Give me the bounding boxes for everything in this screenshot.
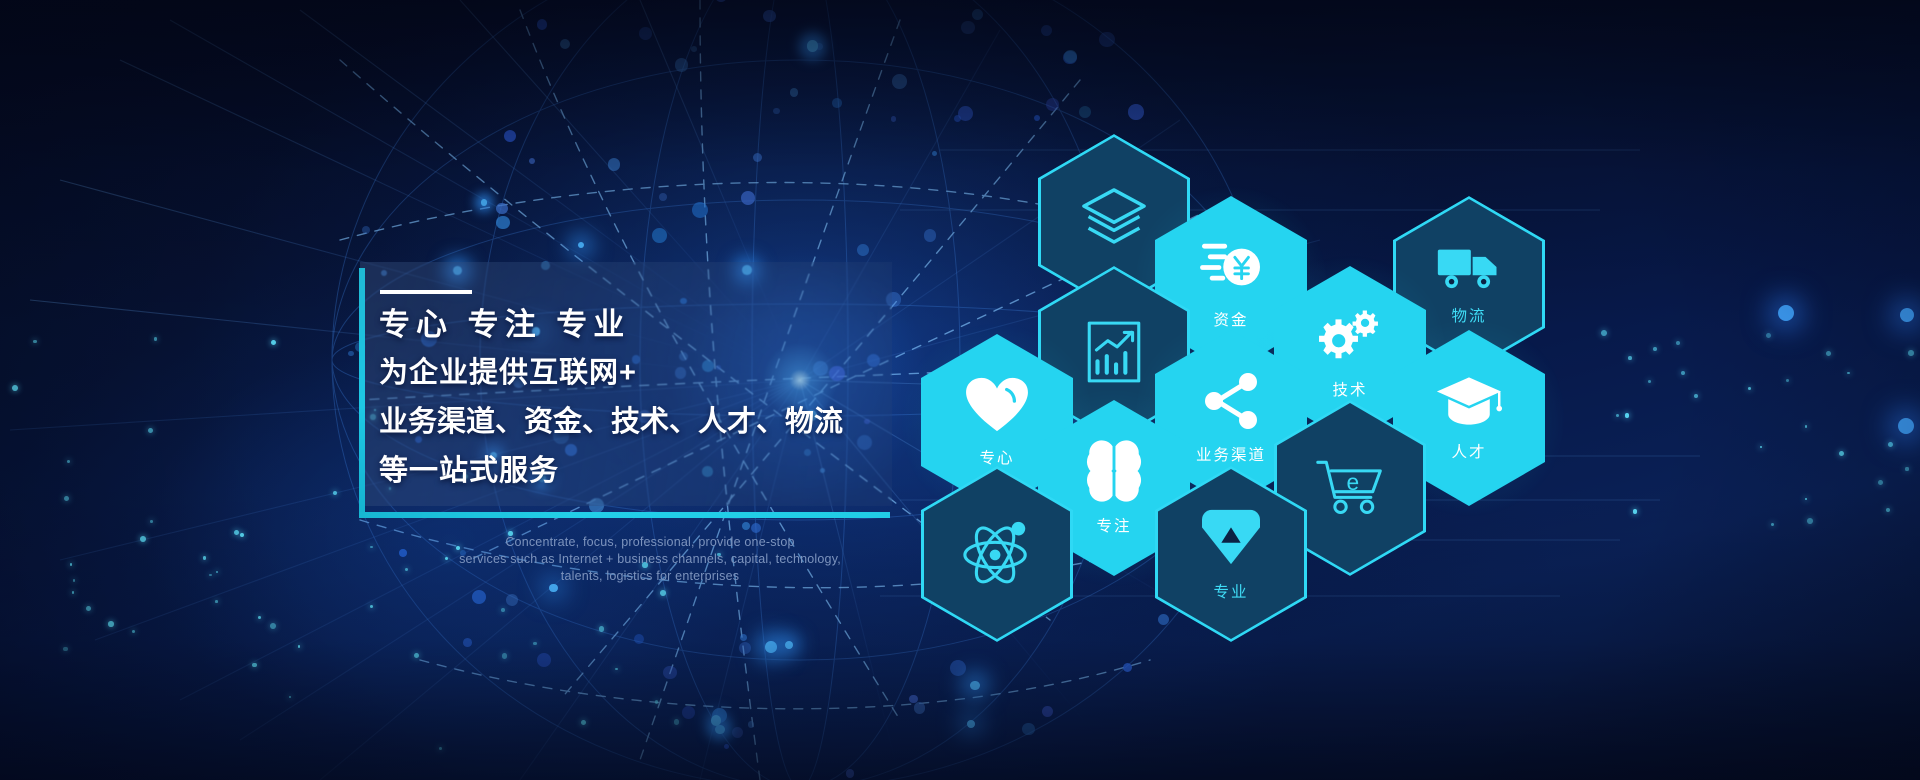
- clover-icon: [1083, 440, 1145, 507]
- hexagon-label: 业务渠道: [1196, 443, 1266, 465]
- atom-icon: [960, 516, 1034, 593]
- hexagon-label: 人才: [1451, 440, 1486, 462]
- hexagon-label: 物流: [1451, 304, 1486, 326]
- yen-coin-icon: [1200, 238, 1262, 301]
- share-node-icon: [1201, 371, 1261, 436]
- svg-text:e: e: [1347, 468, 1360, 494]
- graduation-cap-icon: [1435, 374, 1503, 433]
- hero-banner: 专心 专注 专业 为企业提供互联网+ 业务渠道、资金、技术、人才、物流 等一站式…: [0, 0, 1920, 780]
- truck-icon: [1436, 242, 1502, 297]
- cart-e-icon: e: [1314, 457, 1386, 520]
- diamond-icon: [1202, 506, 1260, 573]
- hexagon-label: 资金: [1213, 308, 1248, 330]
- hexagon-cluster: 资金 物流 技术 专心 业务渠道: [0, 0, 1920, 780]
- hexagon-label: 技术: [1332, 378, 1367, 400]
- hexagon-label: 专业: [1213, 580, 1248, 602]
- layers-icon: [1077, 183, 1151, 262]
- hexagon-label: 专注: [1096, 514, 1131, 536]
- hexagon-label: 专心: [979, 446, 1014, 468]
- gears-icon: [1318, 308, 1382, 371]
- growth-chart-icon: [1083, 319, 1145, 390]
- heart-icon: [964, 376, 1030, 439]
